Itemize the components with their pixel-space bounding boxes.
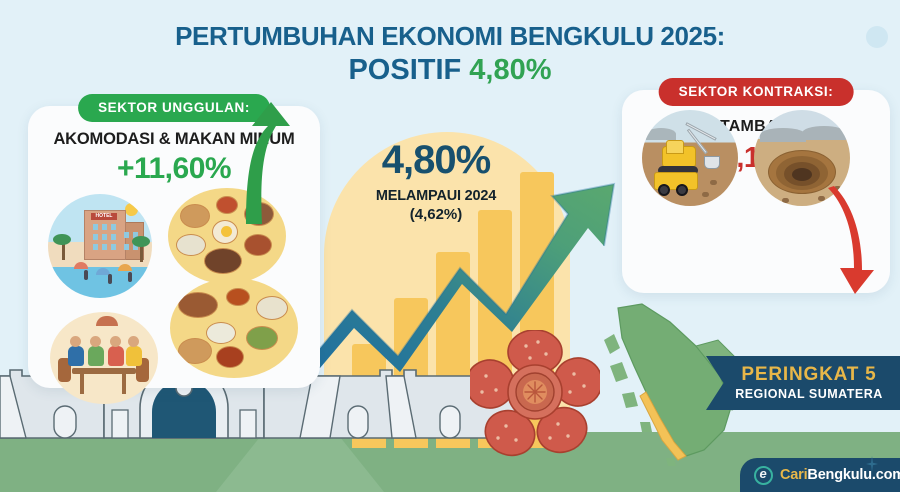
watermark-brand[interactable]: CariBengkulu.com bbox=[740, 458, 900, 492]
people-dining-icon bbox=[50, 312, 158, 404]
page-title: PERTUMBUHAN EKONOMI BENGKULU 2025: POSIT… bbox=[0, 22, 900, 87]
hero-text-block: 4,80% MELAMPAUI 2024 (4,62%) bbox=[336, 140, 536, 223]
caribengkulu-logo-icon bbox=[754, 466, 773, 485]
sun-icon bbox=[125, 203, 138, 216]
hero-percent: 4,80% bbox=[336, 140, 536, 180]
watermark-suffix: Bengkulu.com bbox=[807, 467, 900, 483]
food-platter-icon bbox=[170, 278, 298, 378]
title-line-2: POSITIF 4,80% bbox=[0, 54, 900, 87]
ranking-region: REGIONAL SUMATERA bbox=[723, 387, 883, 401]
title-positif-label: POSITIF bbox=[348, 54, 469, 86]
ranking-ribbon: PERINGKAT 5 REGIONAL SUMATERA bbox=[706, 356, 900, 410]
title-line-1: PERTUMBUHAN EKONOMI BENGKULU 2025: bbox=[0, 22, 900, 52]
infographic-canvas: PERTUMBUHAN EKONOMI BENGKULU 2025: POSIT… bbox=[0, 0, 900, 492]
watermark-prefix: Cari bbox=[780, 467, 807, 483]
rafflesia-flower-icon bbox=[470, 330, 600, 458]
watermark-text: CariBengkulu.com bbox=[780, 467, 900, 483]
title-growth-value: 4,80% bbox=[469, 54, 551, 86]
ranking-value: PERINGKAT 5 bbox=[729, 365, 876, 385]
excavator-icon bbox=[642, 110, 738, 206]
hero-subtitle: MELAMPAUI 2024 bbox=[336, 188, 536, 204]
hotel-beach-icon: HOTEL bbox=[48, 194, 152, 298]
hotel-sign-label: HOTEL bbox=[91, 213, 117, 220]
hero-subtitle-secondary: (4,62%) bbox=[336, 206, 536, 223]
red-down-arrow-icon bbox=[824, 186, 880, 296]
green-up-arrow-icon bbox=[238, 100, 298, 226]
